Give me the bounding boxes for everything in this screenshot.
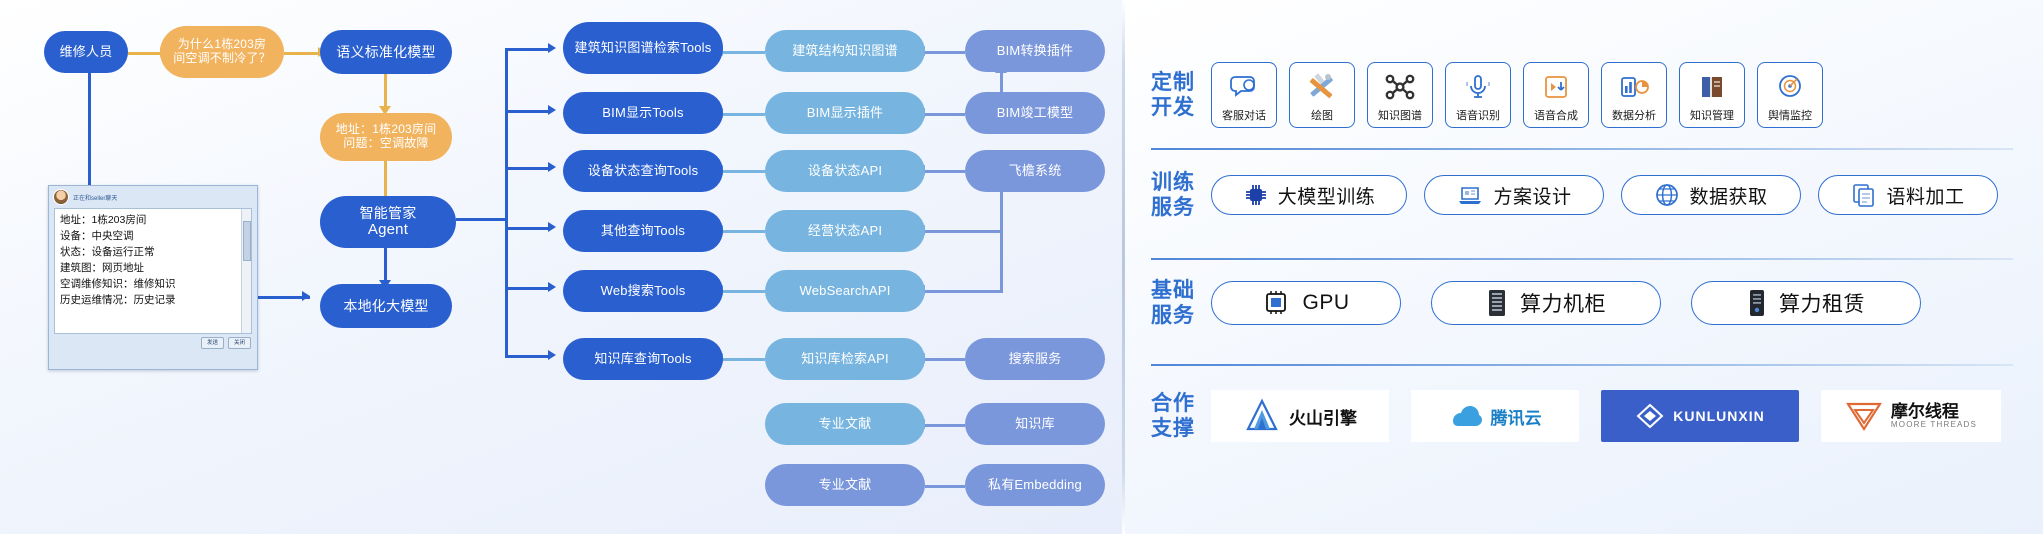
node-local-llm-label: 本地化大模型 (343, 298, 428, 314)
row-training-service: 训练 服务 大模型训练 (1151, 170, 1998, 220)
partner-kunlunxin[interactable]: KUNLUNXIN (1601, 390, 1799, 442)
node-tool-kb-query[interactable]: 知识库查询Tools (563, 338, 723, 380)
card-label: 绘图 (1311, 110, 1333, 122)
pill-label: 算力机柜 (1520, 288, 1606, 318)
row-label-custom-development: 定制 开发 (1151, 70, 1211, 120)
node-agent-label-line2: Agent (368, 221, 408, 238)
chat-line-repair-knowledge: 空调维修知识：维修知识 (60, 276, 246, 292)
laptop-design-icon (1456, 182, 1484, 208)
left-flowchart-panel: 维修人员 为什么1栋203房 间空调不制冷了？ 语义标准化模型 地址：1栋203… (0, 0, 1122, 534)
card-label: 数据分析 (1612, 110, 1656, 122)
chat-window-footer: 发送 关闭 (49, 334, 257, 353)
chat-send-button[interactable]: 发送 (201, 337, 224, 349)
chat-line-drawing: 建筑图：网页地址 (60, 260, 246, 276)
pill-label: 数据获取 (1689, 182, 1767, 209)
card-customer-service-chat[interactable]: 客服对话 (1211, 62, 1277, 128)
connector-agent-to-local-llm (384, 248, 387, 284)
chat-line-status: 状态：设备运行正常 (60, 244, 246, 260)
node-src-5-label: 知识库 (1015, 417, 1055, 432)
node-tool-1-label: 建筑知识图谱检索Tools (575, 41, 712, 56)
pill-model-training[interactable]: 大模型训练 (1211, 175, 1407, 215)
chat-line-address: 地址：1栋203房间 (60, 212, 246, 228)
row-label-infrastructure-service: 基础 服务 (1151, 278, 1211, 328)
architecture-slide: 维修人员 为什么1栋203房 间空调不制冷了？ 语义标准化模型 地址：1栋203… (0, 0, 2043, 534)
monitor-radar-icon (1776, 63, 1804, 110)
row-label-line1: 训练 (1151, 170, 1211, 195)
card-knowledge-graph[interactable]: 知识图谱 (1367, 62, 1433, 128)
row-label-line2: 服务 (1151, 195, 1211, 220)
moore-threads-logo (1845, 399, 1883, 433)
drawing-tools-icon (1306, 63, 1338, 110)
chat-line-history: 历史运维情况：历史记录 (60, 292, 246, 308)
node-tool-5-label: Web搜索Tools (601, 284, 686, 299)
card-drawing[interactable]: 绘图 (1289, 62, 1355, 128)
separator-3 (1151, 364, 2013, 366)
connector-bus-to-tool-1 (505, 48, 550, 51)
node-api-device-status[interactable]: 设备状态API (765, 150, 925, 192)
gpu-chip-icon (1262, 290, 1290, 316)
connector-api3-to-tool3 (723, 170, 765, 173)
node-question[interactable]: 为什么1栋203房 间空调不制冷了？ (160, 26, 284, 78)
node-api-5-label: WebSearchAPI (799, 284, 890, 299)
node-agent-label-line1: 智能管家 (360, 205, 417, 221)
chat-scrollbar[interactable] (241, 209, 251, 333)
node-src-knowledge-base[interactable]: 知识库 (965, 403, 1105, 445)
card-label: 知识管理 (1690, 110, 1734, 122)
node-src-2-label: BIM竣工模型 (997, 106, 1074, 121)
connector-doc-to-embedding (925, 485, 965, 488)
pill-compute-cabinet[interactable]: 算力机柜 (1431, 281, 1661, 325)
node-api-4-label: 经营状态API (808, 224, 882, 239)
card-speech-synthesis[interactable]: 语音合成 (1523, 62, 1589, 128)
node-tool-knowledge-graph-search[interactable]: 建筑知识图谱检索Tools (563, 22, 723, 74)
node-src-private-embedding[interactable]: 私有Embedding (965, 464, 1105, 506)
connector-question-to-semantic (284, 52, 320, 55)
card-public-opinion-monitoring[interactable]: 舆情监控 (1757, 62, 1823, 128)
pill-label: 语料加工 (1886, 182, 1964, 209)
row-partners: 合作 支撑 火山引擎 腾讯云 (1151, 390, 2001, 442)
connector-parsed-to-agent (384, 160, 387, 200)
pill-label: 算力租赁 (1779, 288, 1865, 318)
audio-export-icon (1542, 63, 1570, 110)
node-api-2-label: BIM显示插件 (807, 106, 884, 121)
arrow-bus-to-tool-1 (548, 43, 556, 53)
pill-label: 方案设计 (1493, 182, 1571, 209)
node-agent[interactable]: 智能管家 Agent (320, 196, 456, 248)
pill-solution-design[interactable]: 方案设计 (1424, 175, 1604, 215)
node-src-feiyan-system[interactable]: 飞檐系统 (965, 150, 1105, 192)
card-data-analysis[interactable]: 数据分析 (1601, 62, 1667, 128)
card-label: 知识图谱 (1378, 110, 1422, 122)
chat-line-device: 设备：中央空调 (60, 228, 246, 244)
server-tower-icon (1747, 289, 1767, 317)
node-bottom-doc-label: 专业文献 (819, 478, 872, 493)
connector-kb-to-doc (925, 424, 965, 427)
pill-data-acquisition[interactable]: 数据获取 (1621, 175, 1801, 215)
node-api-1-label: 建筑结构知识图谱 (792, 44, 898, 59)
node-api-building-structure-kg[interactable]: 建筑结构知识图谱 (765, 30, 925, 72)
node-src-search-service[interactable]: 搜索服务 (965, 338, 1105, 380)
partner-label: KUNLUNXIN (1673, 408, 1764, 424)
node-src-3-label: 飞檐系统 (1009, 164, 1062, 179)
partner-volcano-engine[interactable]: 火山引擎 (1211, 390, 1389, 442)
node-tool-3-label: 设备状态查询Tools (588, 164, 699, 179)
document-stack-icon (1851, 182, 1877, 208)
chat-window[interactable]: 正在和seller聊天 地址：1栋203房间 设备：中央空调 状态：设备运行正常… (48, 185, 258, 370)
node-api-kb-retrieval[interactable]: 知识库检索API (765, 338, 925, 380)
separator-2 (1151, 258, 2013, 260)
volcano-engine-logo (1243, 398, 1281, 434)
node-tool-6-label: 知识库查询Tools (594, 352, 691, 367)
chat-window-title: 正在和seller聊天 (73, 193, 117, 202)
node-parsed-result: 地址：1栋203房间 问题：空调故障 (320, 113, 452, 161)
connector-feiyan-to-api5 (925, 290, 1003, 293)
connector-api2-to-tool2 (723, 113, 765, 116)
chat-scrollbar-thumb[interactable] (243, 221, 251, 261)
connector-src3-to-api3 (925, 170, 965, 173)
node-api-7-label: 专业文献 (819, 417, 872, 432)
arrow-bus-to-tool-6 (548, 350, 556, 360)
separator-1 (1151, 148, 2013, 150)
partner-sublabel: MOORE THREADS (1891, 421, 1977, 429)
node-api-bim-display-plugin[interactable]: BIM显示插件 (765, 92, 925, 134)
card-label: 语音识别 (1456, 110, 1500, 122)
node-tool-bim-display[interactable]: BIM显示Tools (563, 92, 723, 134)
services-panel: 定制 开发 客服对话 绘图 (1125, 0, 2043, 534)
connector-bus-to-tool-6 (505, 355, 550, 358)
chat-window-titlebar: 正在和seller聊天 (49, 186, 257, 208)
connector-api6-to-tool6 (723, 358, 765, 361)
server-rack-icon (1486, 289, 1508, 317)
node-question-label: 为什么1栋203房 间空调不制冷了？ (173, 38, 271, 66)
connector-bus-to-tool-2 (505, 110, 550, 113)
connector-bus-to-tool-5 (505, 287, 550, 290)
connector-semantic-to-parsed (384, 72, 387, 110)
node-parsed-result-label: 地址：1栋203房间 问题：空调故障 (336, 123, 437, 151)
node-tool-web-search[interactable]: Web搜索Tools (563, 270, 723, 312)
node-worker-label: 维修人员 (60, 45, 113, 60)
chip-icon (1243, 182, 1269, 208)
row-label-line1: 定制 (1151, 70, 1211, 95)
node-worker[interactable]: 维修人员 (44, 31, 128, 73)
connector-feiyan-to-api4 (925, 230, 1003, 233)
node-src-4-label: 搜索服务 (1009, 352, 1062, 367)
pill-label: GPU (1302, 291, 1349, 315)
connector-api1-to-tool1 (723, 51, 765, 54)
microphone-icon (1464, 63, 1492, 110)
chat-close-button[interactable]: 关闭 (228, 337, 251, 349)
bar-chart-icon (1619, 63, 1649, 110)
connector-api5-to-tool5 (723, 290, 765, 293)
card-label: 舆情监控 (1768, 110, 1812, 122)
node-api-business-status[interactable]: 经营状态API (765, 210, 925, 252)
row-custom-development: 定制 开发 客服对话 绘图 (1151, 62, 1823, 128)
partner-tencent-cloud[interactable]: 腾讯云 (1411, 390, 1579, 442)
pill-compute-leasing[interactable]: 算力租赁 (1691, 281, 1921, 325)
node-tool-2-label: BIM显示Tools (602, 106, 683, 121)
avatar (53, 189, 69, 205)
node-bottom-professional-literature[interactable]: 专业文献 (765, 464, 925, 506)
row-label-line1: 基础 (1151, 278, 1211, 303)
connector-src2-to-api2 (925, 113, 965, 116)
arrow-bus-to-tool-3 (548, 162, 556, 172)
node-local-llm[interactable]: 本地化大模型 (320, 284, 452, 328)
connector-agent-bus-stub (456, 218, 508, 221)
card-knowledge-management[interactable]: 知识管理 (1679, 62, 1745, 128)
row-label-line2: 开发 (1151, 95, 1211, 120)
chat-message-body: 地址：1栋203房间 设备：中央空调 状态：设备运行正常 建筑图：网页地址 空调… (54, 208, 252, 334)
partner-label: 腾讯云 (1491, 404, 1542, 429)
connector-bus-to-tool-4 (505, 227, 550, 230)
node-api-3-label: 设备状态API (808, 164, 882, 179)
pill-gpu[interactable]: GPU (1211, 281, 1401, 325)
arrow-bus-to-tool-5 (548, 282, 556, 292)
row-label-line2: 服务 (1151, 303, 1211, 328)
connector-bus-to-tool-3 (505, 167, 550, 170)
knowledge-graph-icon (1385, 63, 1415, 110)
card-label: 语音合成 (1534, 110, 1578, 122)
node-api-professional-literature[interactable]: 专业文献 (765, 403, 925, 445)
pill-corpus-processing[interactable]: 语料加工 (1818, 175, 1998, 215)
card-label: 客服对话 (1222, 110, 1266, 122)
globe-icon (1654, 182, 1680, 208)
arrow-bus-to-tool-4 (548, 222, 556, 232)
row-label-line2: 支撑 (1151, 416, 1211, 441)
tencent-cloud-logo (1449, 401, 1483, 431)
row-label-partners: 合作 支撑 (1151, 391, 1211, 441)
partner-label: 火山引擎 (1289, 404, 1357, 429)
connector-worker-to-question (128, 52, 162, 55)
node-src-1-label: BIM转换插件 (997, 44, 1074, 59)
arrow-bus-to-tool-2 (548, 105, 556, 115)
partner-label: 摩尔线程 (1891, 403, 1977, 421)
connector-api4-to-tool4 (723, 230, 765, 233)
node-api-web-search[interactable]: WebSearchAPI (765, 270, 925, 312)
row-infrastructure-service: 基础 服务 GPU (1151, 278, 1921, 328)
row-label-training-service: 训练 服务 (1151, 170, 1211, 220)
node-src-6-label: 私有Embedding (988, 478, 1082, 493)
arrow-llm-left-tip (302, 291, 310, 301)
node-tool-device-status-query[interactable]: 设备状态查询Tools (563, 150, 723, 192)
node-tool-other-query[interactable]: 其他查询Tools (563, 210, 723, 252)
connector-src4-to-api6 (925, 358, 965, 361)
partner-moore-threads[interactable]: 摩尔线程 MOORE THREADS (1821, 390, 2001, 442)
book-icon (1698, 63, 1726, 110)
connector-src1-to-api1 (925, 51, 965, 54)
node-semantic-model[interactable]: 语义标准化模型 (320, 30, 452, 74)
node-src-bim-converter-plugin[interactable]: BIM转换插件 (965, 30, 1105, 72)
node-semantic-model-label: 语义标准化模型 (336, 44, 435, 60)
node-tool-4-label: 其他查询Tools (601, 224, 685, 239)
row-label-line1: 合作 (1151, 391, 1211, 416)
pill-label: 大模型训练 (1278, 182, 1376, 209)
node-src-bim-as-built-model[interactable]: BIM竣工模型 (965, 92, 1105, 134)
node-api-6-label: 知识库检索API (801, 352, 889, 367)
connector-agent-bus-spine (505, 48, 508, 358)
kunlunxin-logo (1635, 402, 1665, 430)
chat-bubble-icon (1229, 63, 1259, 110)
card-speech-recognition[interactable]: 语音识别 (1445, 62, 1511, 128)
